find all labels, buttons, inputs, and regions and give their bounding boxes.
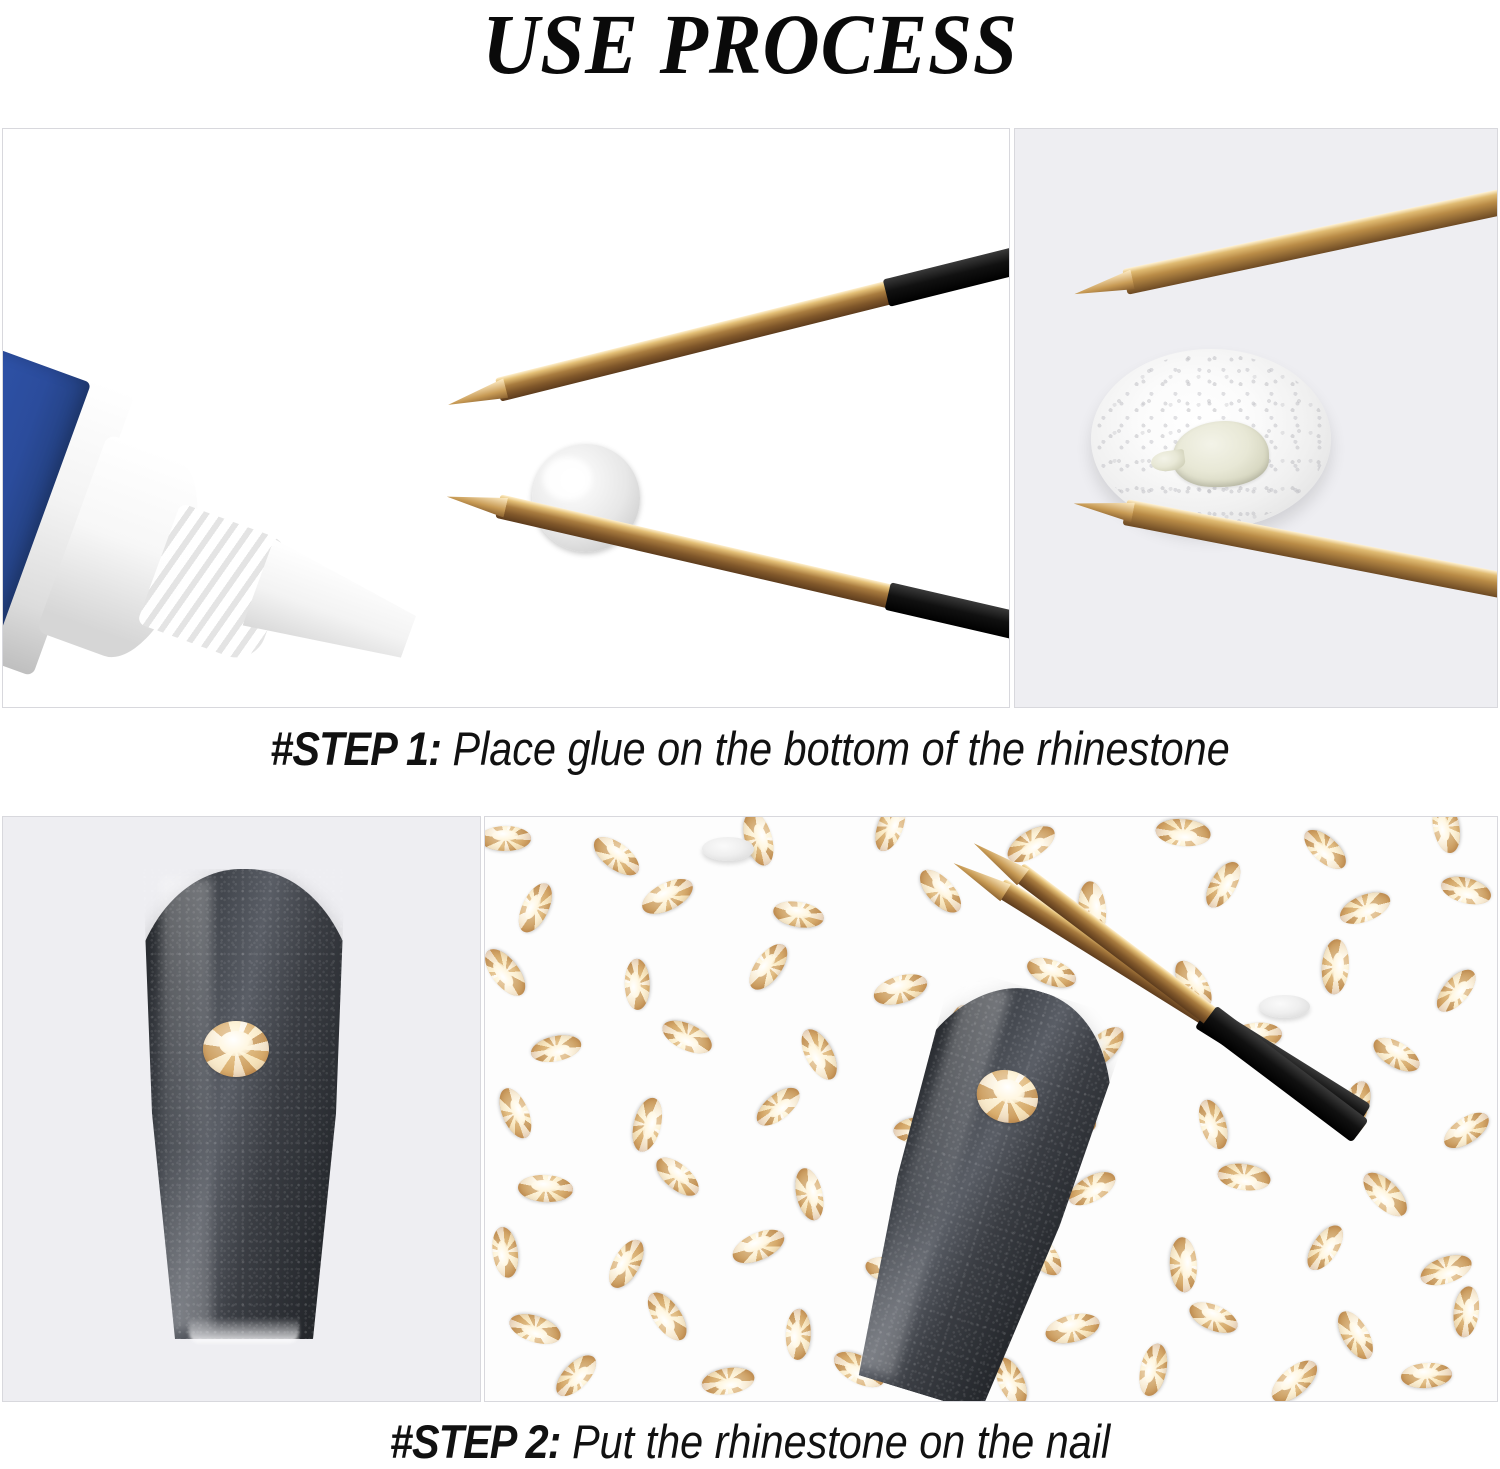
- glue-drop: [1173, 421, 1269, 487]
- scattered-rhinestone: [1331, 1305, 1380, 1364]
- scattered-rhinestone: [913, 863, 968, 919]
- page-title: USE PROCESS: [60, 0, 1440, 94]
- scattered-rhinestone: [1357, 1165, 1415, 1223]
- scattered-rhinestone: [700, 1364, 756, 1398]
- step-2-text: Put the rhinestone on the nail: [561, 1415, 1111, 1468]
- scattered-rhinestone: [1265, 1353, 1324, 1402]
- step-1-caption: #STEP 1: Place glue on the bottom of the…: [90, 721, 1410, 776]
- tweezers-metal-shaft: [1122, 182, 1498, 295]
- tweezers: [1000, 816, 1498, 1087]
- scattered-rhinestone: [640, 1287, 694, 1347]
- scattered-rhinestone: [742, 938, 794, 996]
- step-2-tag: #STEP 2:: [390, 1415, 561, 1468]
- scattered-rhinestone: [1439, 1106, 1495, 1155]
- scattered-rhinestone: [518, 1174, 574, 1204]
- nail-tip-highlight: [189, 1317, 299, 1343]
- tweezers-tip: [445, 378, 508, 412]
- scattered-rhinestone: [1451, 1285, 1482, 1338]
- applied-rhinestone: [203, 1021, 269, 1077]
- rhinestone-highlight: [219, 1031, 253, 1056]
- scattered-rhinestone: [790, 1166, 827, 1223]
- scattered-rhinestone: [637, 872, 698, 921]
- scattered-rhinestone: [624, 959, 650, 1010]
- scattered-rhinestone: [602, 1235, 650, 1294]
- step-2-image-row: [0, 816, 1500, 1402]
- scattered-rhinestone: [528, 1031, 583, 1066]
- tweezers-lower-arm: [1123, 499, 1498, 605]
- step-1-tag: #STEP 1:: [270, 722, 441, 775]
- scattered-rhinestone: [869, 816, 911, 855]
- scattered-rhinestone: [1417, 1249, 1475, 1291]
- glue-bottle-nozzle: [242, 539, 424, 680]
- panel-glue-bottle-and-tweezers-photo: B R: [2, 128, 1010, 708]
- scattered-rhinestone: [658, 1014, 717, 1060]
- panel-rhinestone-application-photo: [484, 816, 1498, 1402]
- scattered-rhinestone: [588, 829, 646, 882]
- scattered-rhinestone: [728, 1223, 789, 1270]
- scattered-rhinestone: [1300, 1219, 1349, 1275]
- scattered-rhinestone: [1216, 1160, 1272, 1193]
- tweezers-metal-shaft: [1123, 499, 1498, 605]
- panel-finished-nail-photo: [2, 816, 481, 1402]
- panel-rhinestone-glue-closeup-photo: [1014, 128, 1498, 708]
- scattered-rhinestone: [507, 1308, 565, 1349]
- tweezers-grip: [885, 582, 1010, 645]
- scattered-rhinestone: [1135, 1341, 1171, 1398]
- scattered-rhinestone: [1194, 1097, 1234, 1153]
- scattered-rhinestone: [493, 1083, 538, 1142]
- scattered-rhinestone: [484, 826, 531, 851]
- rhinestone-flat-back: [702, 837, 755, 861]
- step-2-caption: #STEP 2: Put the rhinestone on the nail: [90, 1414, 1410, 1469]
- scattered-rhinestone: [1168, 1236, 1198, 1292]
- tweezers-lower-arm: [495, 494, 1010, 643]
- scattered-rhinestone: [785, 1309, 812, 1360]
- scattered-rhinestone: [512, 879, 559, 938]
- tweezers-tip: [445, 485, 508, 518]
- rhinestone-highlight: [492, 830, 518, 841]
- tweezers: [458, 304, 1010, 634]
- scattered-rhinestone: [870, 969, 930, 1011]
- scattered-rhinestone: [484, 943, 533, 1003]
- step-1-image-row: B R: [0, 128, 1500, 708]
- scattered-rhinestone: [627, 1095, 667, 1155]
- tweezers: [1045, 209, 1498, 639]
- tweezers-upper-arm: [1122, 182, 1498, 295]
- step-1-text: Place glue on the bottom of the rhinesto…: [441, 722, 1230, 775]
- scattered-rhinestone: [489, 1226, 521, 1280]
- tweezers-metal-shaft: [495, 494, 1010, 643]
- tweezers-upper-arm: [495, 243, 1010, 402]
- glue-bottle: B R: [2, 309, 389, 708]
- scattered-rhinestone: [1400, 1361, 1452, 1390]
- scattered-rhinestone: [549, 1349, 602, 1402]
- scattered-rhinestone: [772, 897, 826, 931]
- scattered-rhinestone: [794, 1024, 844, 1085]
- tweezers-grip: [883, 241, 1010, 307]
- scattered-rhinestone: [1185, 1296, 1241, 1339]
- scattered-rhinestone: [751, 1081, 806, 1132]
- tweezers-tip: [1072, 270, 1135, 302]
- nail-surface: [129, 869, 359, 1339]
- press-on-nail: [129, 869, 359, 1339]
- scattered-rhinestone: [650, 1151, 705, 1203]
